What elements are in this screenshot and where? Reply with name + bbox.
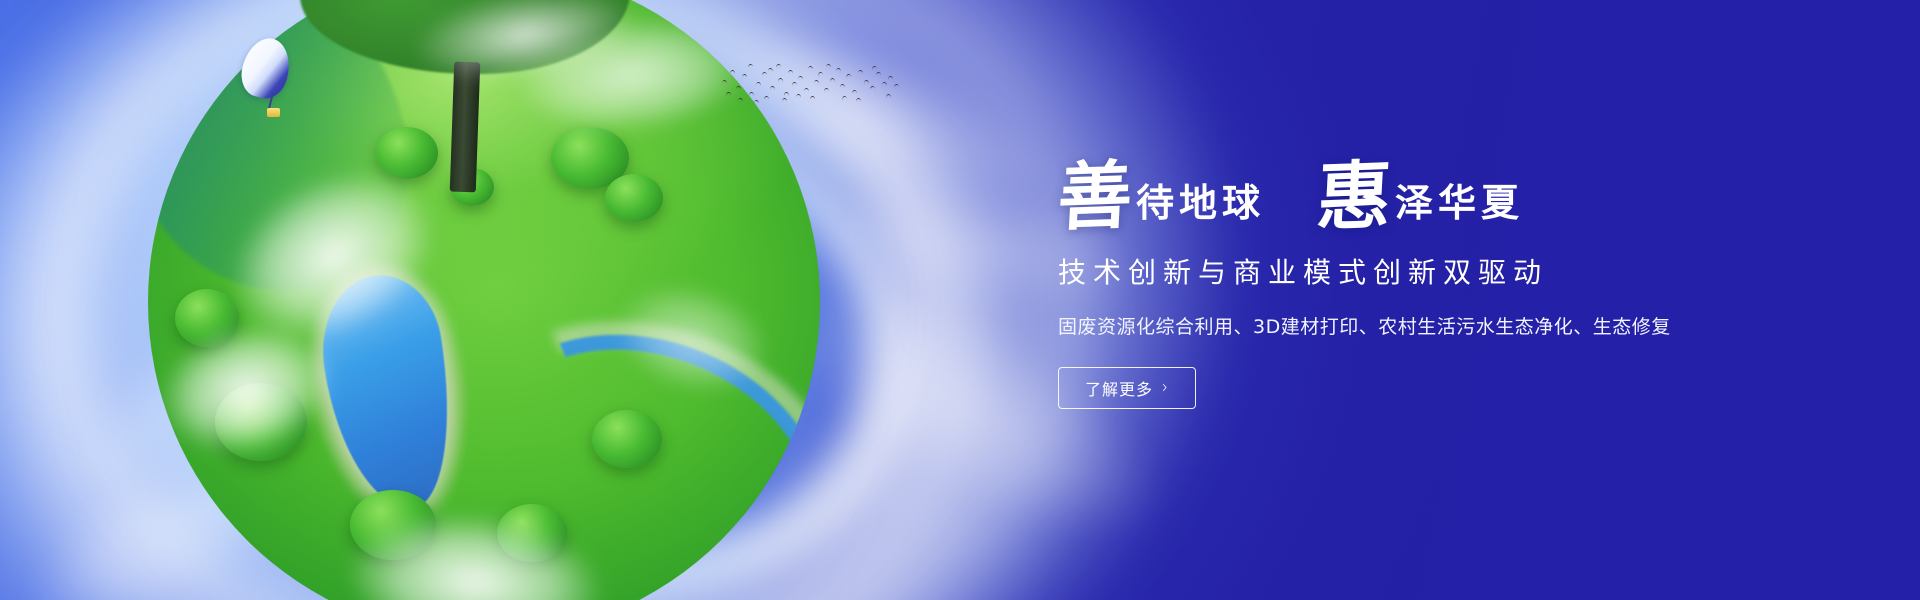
bird-icon — [754, 99, 760, 104]
bird-flock-icon — [718, 52, 898, 112]
page-title: 善 待地球 惠 泽华夏 — [1058, 160, 1758, 234]
bird-icon — [730, 70, 735, 74]
balloon-envelope — [236, 33, 295, 102]
bird-icon — [846, 73, 852, 78]
bird-icon — [722, 80, 728, 85]
bird-icon — [814, 79, 820, 84]
lake-shoreline — [289, 244, 490, 541]
bird-icon — [796, 94, 802, 99]
learn-more-label: 了解更多 — [1085, 376, 1153, 400]
bird-icon — [858, 69, 864, 74]
bird-icon — [782, 98, 787, 103]
bird-icon — [798, 76, 804, 81]
chevron-right-icon: › — [1162, 378, 1169, 397]
lake-icon — [312, 267, 467, 518]
hot-air-balloon-icon — [243, 38, 297, 128]
banner-description: 固废资源化综合利用、3D建材打印、农村生活污水生态净化、生态修复 — [1058, 312, 1758, 339]
bird-icon — [804, 88, 810, 93]
balloon-basket — [267, 108, 280, 117]
bird-icon — [870, 85, 876, 90]
bird-icon — [841, 95, 847, 100]
tree-canopy — [175, 289, 239, 347]
bird-icon — [768, 67, 774, 72]
headline-brush-char-2: 惠 — [1315, 159, 1393, 236]
bird-icon — [856, 98, 861, 102]
bird-icon — [826, 64, 832, 69]
bird-icon — [788, 70, 793, 74]
tree-canopy — [592, 410, 662, 468]
ground-mist — [149, 310, 343, 468]
bird-icon — [762, 72, 768, 77]
bird-icon — [778, 78, 783, 82]
bird-icon — [817, 71, 823, 76]
headline-rest-1: 待地球 — [1136, 184, 1265, 222]
bird-icon — [736, 86, 742, 91]
bird-icon — [886, 94, 891, 98]
bird-icon — [738, 97, 744, 102]
bird-icon — [888, 76, 893, 80]
banner-copy: 善 待地球 惠 泽华夏 技术创新与商业模式创新双驱动 固废资源化综合利用、3D建… — [1058, 160, 1758, 409]
bird-icon — [852, 90, 858, 95]
headline-rest-2: 泽华夏 — [1395, 184, 1524, 222]
bird-icon — [830, 78, 835, 82]
large-tree-icon — [300, 0, 630, 220]
bird-icon — [764, 96, 769, 101]
bird-icon — [836, 67, 842, 72]
bird-icon — [749, 92, 754, 96]
bird-icon — [784, 92, 789, 96]
bird-icon — [748, 63, 754, 68]
bird-icon — [726, 92, 731, 96]
tree-haze — [405, 0, 645, 96]
ground-mist — [608, 270, 780, 407]
learn-more-button[interactable]: 了解更多 › — [1058, 367, 1196, 409]
bird-icon — [756, 81, 762, 86]
bird-icon — [864, 80, 869, 85]
bird-icon — [810, 96, 815, 100]
bird-icon — [776, 63, 782, 68]
tree-canopy — [497, 504, 567, 562]
bird-icon — [876, 71, 882, 76]
headline-brush-char-1: 善 — [1056, 159, 1134, 236]
bird-icon — [792, 82, 798, 87]
bird-icon — [894, 84, 900, 89]
bird-icon — [871, 65, 877, 70]
bird-icon — [824, 88, 830, 93]
tree-canopy — [350, 490, 436, 560]
bird-icon — [882, 81, 888, 86]
bird-icon — [742, 73, 748, 78]
river-icon — [433, 285, 820, 600]
bird-icon — [770, 86, 775, 91]
hero-banner: 善 待地球 惠 泽华夏 技术创新与商业模式创新双驱动 固废资源化综合利用、3D建… — [0, 0, 1920, 600]
bird-icon — [808, 66, 814, 71]
banner-subtitle: 技术创新与商业模式创新双驱动 — [1058, 256, 1758, 290]
ground-mist — [343, 504, 605, 600]
tree-canopy — [215, 383, 307, 461]
bird-icon — [840, 84, 846, 89]
